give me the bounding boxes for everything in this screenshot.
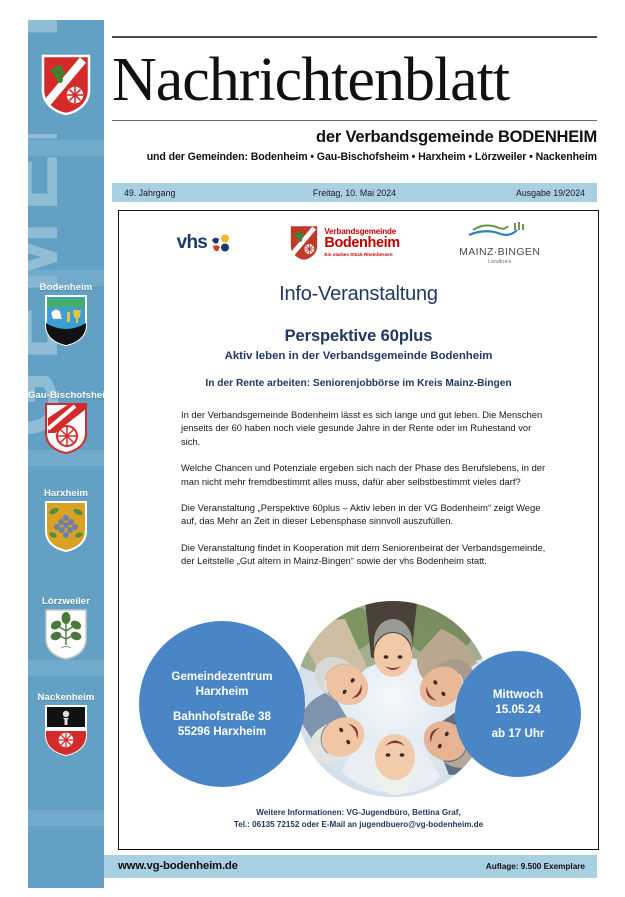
venue-line1: Gemeindezentrum xyxy=(171,669,272,684)
venue-line2: Harxheim xyxy=(171,684,272,699)
event-subheadline: Aktiv leben in der Verbandsgemeinde Bode… xyxy=(119,350,598,362)
vg-logo-slogan: Ein starkes Stück Rheinhessen xyxy=(324,253,399,258)
date-label: Freitag, 10. Mai 2024 xyxy=(313,188,396,198)
date-weekday: Mittwoch xyxy=(492,687,545,702)
venue-line4: 55296 Harxheim xyxy=(171,724,272,739)
harxheim-crest xyxy=(45,501,87,553)
bodenheim-crest xyxy=(45,295,87,347)
footer-circulation: Auflage: 9.500 Exemplare xyxy=(486,862,585,871)
mainz-bingen-name: MAINZ·BINGEN xyxy=(459,247,540,258)
footer-website-link[interactable]: www.vg-bodenheim.de xyxy=(118,860,238,872)
sidebar-item-gau-bischofsheim[interactable]: Gau-Bischofsheim xyxy=(28,390,104,460)
venue-circle: Gemeindezentrum Harxheim Bahnhofstraße 3… xyxy=(139,621,305,787)
masthead-top-rule xyxy=(112,36,597,38)
issue-info-bar: 49. Jahrgang Freitag, 10. Mai 2024 Ausga… xyxy=(112,183,597,202)
venue-line3: Bahnhofstraße 38 xyxy=(171,709,272,724)
newspaper-title: Nachrichtenblatt xyxy=(112,40,597,120)
sidebar-item-nackenheim[interactable]: Nackenheim xyxy=(28,692,104,762)
sidebar-item-label: Bodenheim xyxy=(28,282,104,293)
vg-crest-icon xyxy=(289,224,319,262)
mainz-bingen-sub: Landkreis xyxy=(459,260,540,265)
gau-bischofsheim-crest xyxy=(45,403,87,455)
nackenheim-crest xyxy=(45,705,87,757)
footer-bar: www.vg-bodenheim.de Auflage: 9.500 Exemp… xyxy=(104,855,597,878)
event-announcement-box: vhs xyxy=(118,210,599,850)
sidebar-item-label: Harxheim xyxy=(28,488,104,499)
issue-label: Ausgabe 19/2024 xyxy=(516,188,585,198)
masthead: Nachrichtenblatt der Verbandsgemeinde BO… xyxy=(112,36,597,163)
event-artwork: Gemeindezentrum Harxheim Bahnhofstraße 3… xyxy=(119,599,598,807)
volume-label: 49. Jahrgang xyxy=(124,188,175,198)
verbandsgemeinde-bodenheim-logo: Verbandsgemeinde Bodenheim Ein starkes S… xyxy=(289,224,399,262)
vg-logo-line2: Bodenheim xyxy=(324,236,399,251)
mainz-bingen-mark-icon xyxy=(467,221,533,241)
loerzweiler-crest xyxy=(45,609,87,661)
sidebar-item-label: Nackenheim xyxy=(28,692,104,703)
mainz-bingen-logo: MAINZ·BINGEN Landkreis xyxy=(459,221,540,265)
event-kicker: Info-Veranstaltung xyxy=(119,283,598,306)
event-paragraph: Die Veranstaltung „Perspektive 60plus – … xyxy=(181,501,553,528)
event-paragraph: Welche Chancen und Potenziale ergeben si… xyxy=(181,461,553,488)
masthead-municipalities: und der Gemeinden: Bodenheim • Gau-Bisch… xyxy=(112,151,597,163)
contact-line-1: Weitere Informationen: VG-Jugendbüro, Be… xyxy=(119,807,598,819)
vhs-mark-icon xyxy=(210,233,230,253)
masthead-subtitle: der Verbandsgemeinde BODENHEIM xyxy=(112,128,597,147)
date-circle: Mittwoch 15.05.24 ab 17 Uhr xyxy=(455,651,581,777)
sidebar-item-bodenheim[interactable]: Bodenheim xyxy=(28,282,104,352)
municipality-sidebar: GEMEINDE Bodenheim xyxy=(28,20,104,888)
event-body-text: In der Verbandsgemeinde Bodenheim lässt … xyxy=(181,408,553,581)
event-topic-line: In der Rente arbeiten: Seniorenjobbörse … xyxy=(119,378,598,389)
event-paragraph: Die Veranstaltung findet in Kooperation … xyxy=(181,541,553,568)
masthead-mid-rule xyxy=(112,120,597,121)
newspaper-front-page: GEMEINDE Bodenheim xyxy=(0,0,625,897)
vhs-logo-text: vhs xyxy=(177,232,207,254)
date-time: ab 17 Uhr xyxy=(492,726,545,741)
sidebar-item-loerzweiler[interactable]: Lörzweiler xyxy=(28,596,104,666)
vhs-logo: vhs xyxy=(177,232,230,254)
event-headline: Perspektive 60plus xyxy=(119,327,598,346)
sidebar-item-label: Lörzweiler xyxy=(28,596,104,607)
sidebar-item-label: Gau-Bischofsheim xyxy=(28,390,104,401)
event-contact-info: Weitere Informationen: VG-Jugendbüro, Be… xyxy=(119,807,598,831)
contact-line-2: Tel.: 06135 72152 oder E-Mail an jugendb… xyxy=(119,819,598,831)
sidebar-item-harxheim[interactable]: Harxheim xyxy=(28,488,104,558)
event-paragraph: In der Verbandsgemeinde Bodenheim lässt … xyxy=(181,408,553,448)
date-value: 15.05.24 xyxy=(492,702,545,717)
partner-logos: vhs xyxy=(119,217,598,269)
verbandsgemeinde-bodenheim-crest xyxy=(28,36,104,134)
